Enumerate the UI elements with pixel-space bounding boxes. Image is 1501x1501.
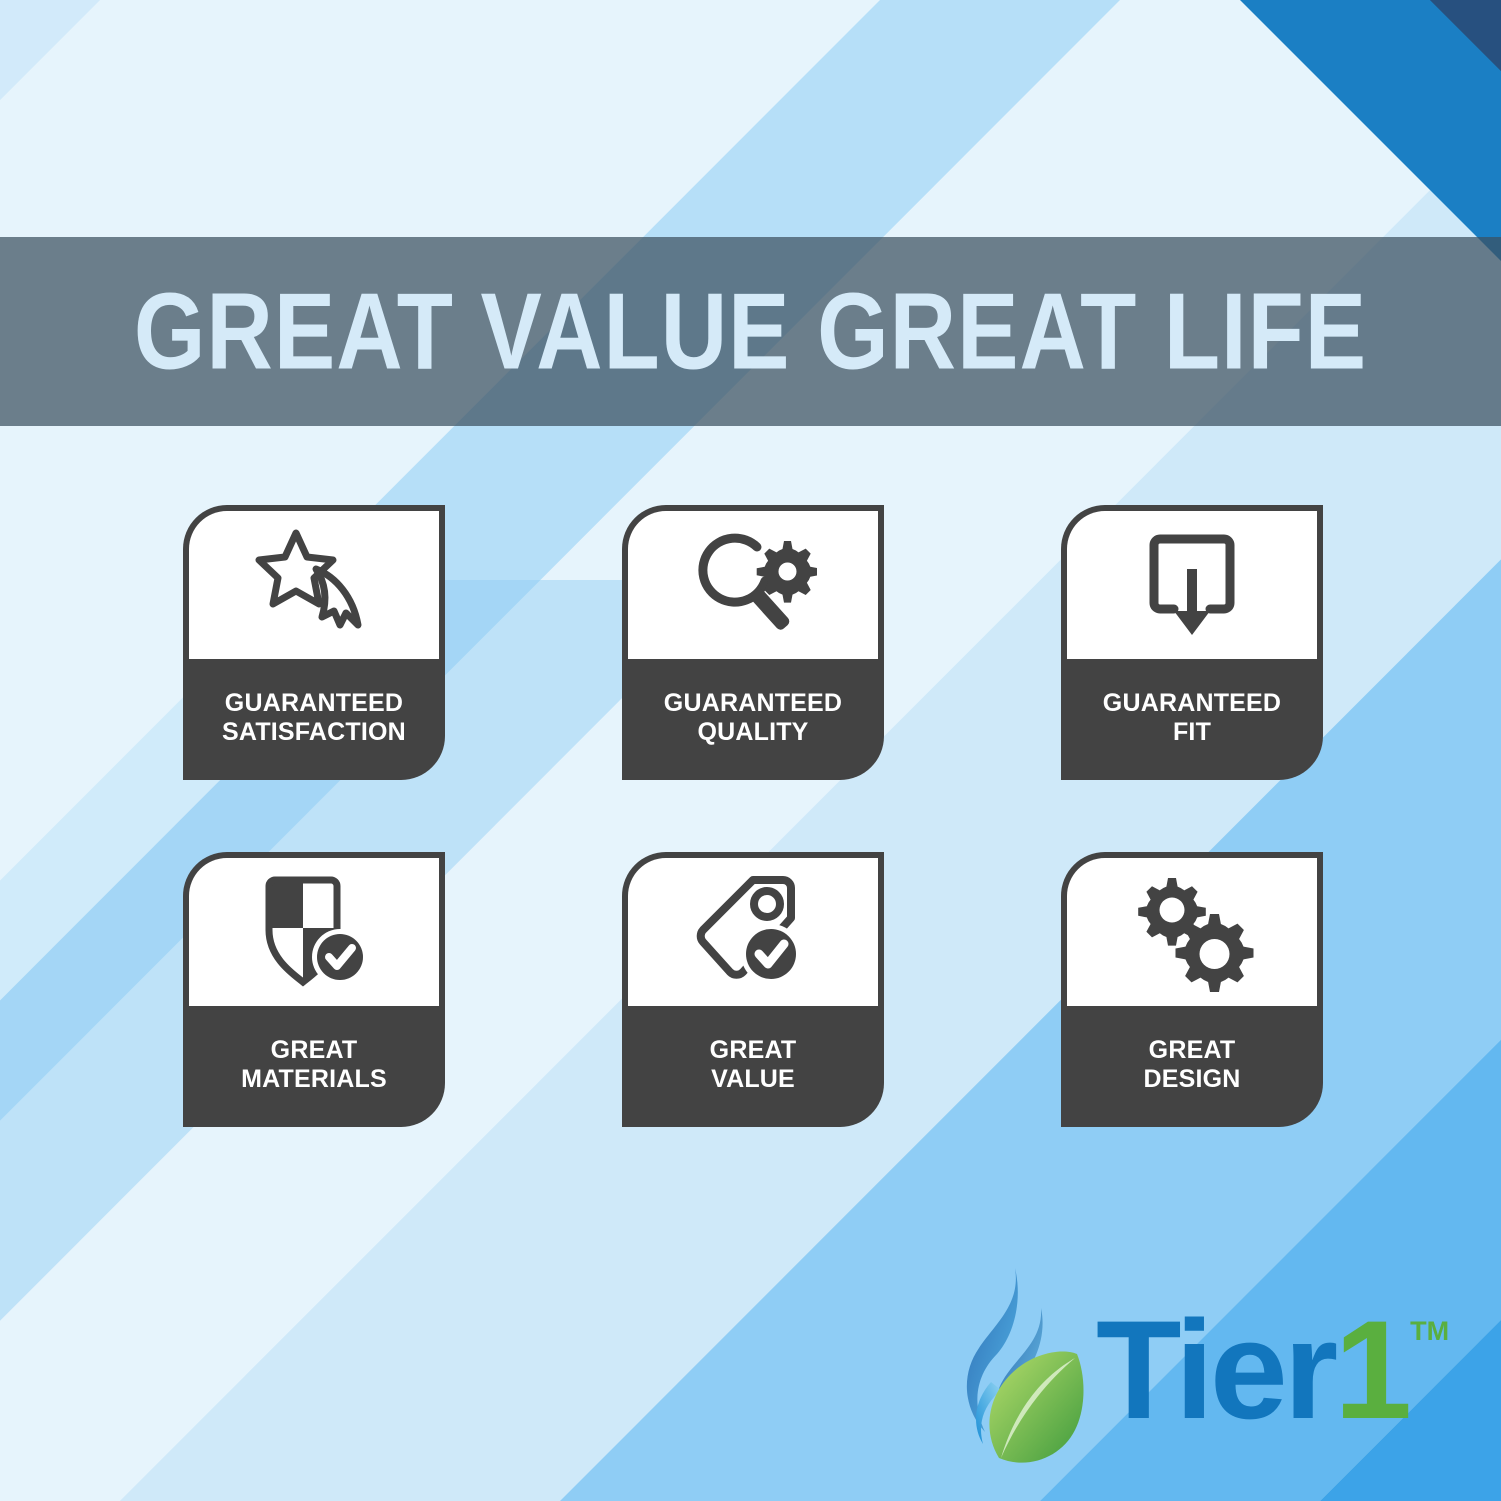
- card-icon-area: [1067, 858, 1317, 1006]
- card-label-line1: GUARANTEED: [1103, 689, 1281, 718]
- card-icon-area: [1067, 511, 1317, 659]
- card-label: GREAT VALUE: [622, 1006, 884, 1127]
- poster-canvas: GREAT VALUE GREAT LIFE GUARANTEED SATISF…: [0, 0, 1501, 1501]
- card-label: GUARANTEED QUALITY: [622, 659, 884, 780]
- card-label-line2: QUALITY: [697, 718, 808, 747]
- logo-text-one: 1: [1334, 1300, 1408, 1440]
- card-label-line1: GREAT: [271, 1036, 358, 1065]
- card-label-line2: FIT: [1173, 718, 1211, 747]
- card-label: GUARANTEED SATISFACTION: [183, 659, 445, 780]
- card-label-line1: GREAT: [1149, 1036, 1236, 1065]
- box-arrow-down-icon: [1132, 525, 1252, 645]
- shooting-star-icon: [250, 525, 378, 645]
- card-label-line2: MATERIALS: [241, 1065, 387, 1094]
- shield-check-icon: [251, 872, 377, 992]
- feature-card-grid: GUARANTEED SATISFACTION GUAR: [183, 505, 1333, 1127]
- feature-card-guaranteed-satisfaction[interactable]: GUARANTEED SATISFACTION: [183, 505, 445, 780]
- card-icon-area: [189, 511, 439, 659]
- feature-card-guaranteed-quality[interactable]: GUARANTEED QUALITY: [622, 505, 884, 780]
- card-label-line1: GUARANTEED: [225, 689, 403, 718]
- card-label-line2: VALUE: [711, 1065, 795, 1094]
- tier1-wordmark: Tier 1 TM: [1096, 1300, 1449, 1440]
- card-label-line2: SATISFACTION: [222, 718, 406, 747]
- card-label-line1: GUARANTEED: [664, 689, 842, 718]
- card-label-line2: DESIGN: [1143, 1065, 1240, 1094]
- banner-title: GREAT VALUE GREAT LIFE: [134, 277, 1367, 386]
- logo-trademark: TM: [1410, 1318, 1449, 1345]
- card-label: GUARANTEED FIT: [1061, 659, 1323, 780]
- headline-banner: GREAT VALUE GREAT LIFE: [0, 237, 1501, 426]
- tier1-logo: Tier 1 TM: [955, 1262, 1455, 1477]
- tier1-droplet-leaf-mark: [955, 1262, 1090, 1477]
- feature-card-great-materials[interactable]: GREAT MATERIALS: [183, 852, 445, 1127]
- feature-card-great-value[interactable]: GREAT VALUE: [622, 852, 884, 1127]
- card-icon-area: [628, 858, 878, 1006]
- card-label: GREAT MATERIALS: [183, 1006, 445, 1127]
- magnifier-gear-icon: [689, 525, 817, 645]
- feature-card-guaranteed-fit[interactable]: GUARANTEED FIT: [1061, 505, 1323, 780]
- card-label: GREAT DESIGN: [1061, 1006, 1323, 1127]
- card-icon-area: [628, 511, 878, 659]
- logo-text-tier: Tier: [1096, 1300, 1334, 1440]
- tag-check-icon: [689, 872, 817, 992]
- feature-card-great-design[interactable]: GREAT DESIGN: [1061, 852, 1323, 1127]
- card-label-line1: GREAT: [710, 1036, 797, 1065]
- gears-icon: [1128, 872, 1256, 992]
- card-icon-area: [189, 858, 439, 1006]
